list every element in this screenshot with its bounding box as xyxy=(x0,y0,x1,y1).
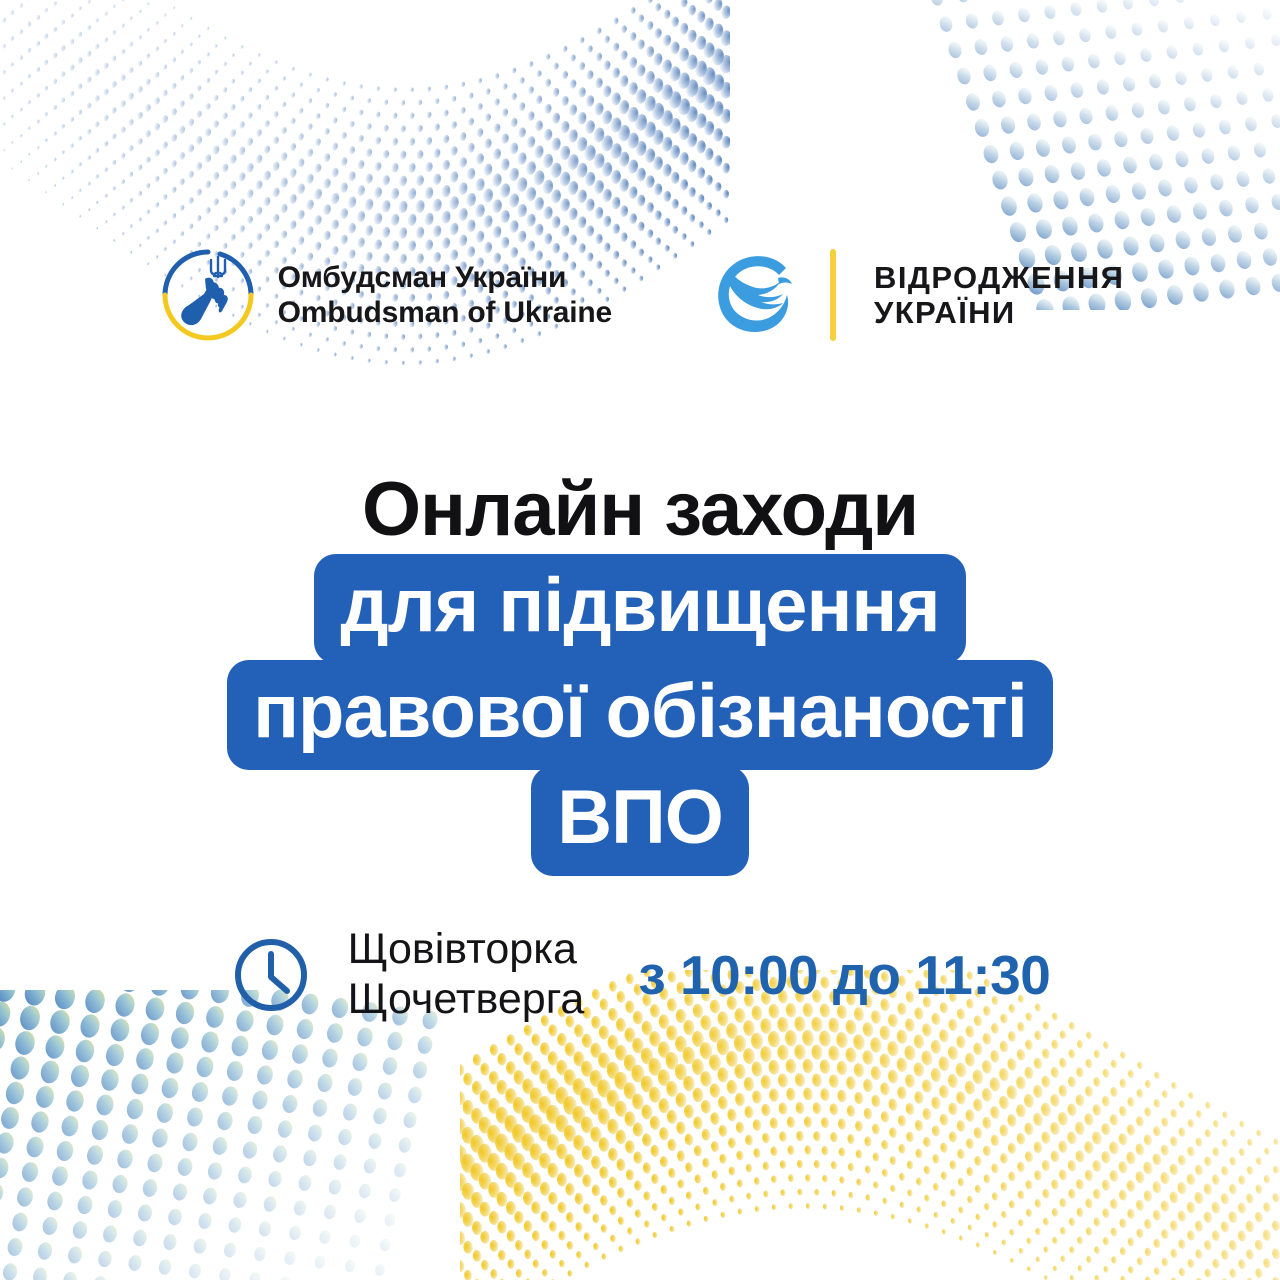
ombudsman-logo: Омбудсман України Ombudsman of Ukraine xyxy=(156,243,612,347)
phoenix-bird-icon xyxy=(708,248,802,342)
headline-line-4: ВПО xyxy=(531,766,749,876)
headline-line-2: для підвищення xyxy=(314,554,965,664)
ombudsman-emblem-icon xyxy=(156,243,260,347)
ombudsman-logo-text: Омбудсман України Ombudsman of Ukraine xyxy=(278,260,612,331)
partner-logo: ВІДРОДЖЕННЯ УКРАЇНИ xyxy=(708,248,1124,342)
schedule-day-2: Щочетверга xyxy=(348,975,585,1025)
schedule-day-1: Щовівторка xyxy=(348,925,585,975)
partner-name-line1: ВІДРОДЖЕННЯ xyxy=(874,260,1124,295)
poster-canvas: Омбудсман України Ombudsman of Ukraine В… xyxy=(0,0,1280,1280)
partner-logo-text: ВІДРОДЖЕННЯ УКРАЇНИ xyxy=(874,260,1124,331)
schedule-days: Щовівторка Щочетверга xyxy=(348,925,585,1025)
ombudsman-name-uk: Омбудсман України xyxy=(278,260,612,295)
headline-line-1: Онлайн заходи xyxy=(362,468,918,558)
schedule-time-range: з 10:00 до 11:30 xyxy=(638,943,1050,1007)
schedule-block: Щовівторка Щочетверга з 10:00 до 11:30 xyxy=(0,925,1280,1025)
logo-divider xyxy=(830,249,836,341)
partner-name-line2: УКРАЇНИ xyxy=(874,295,1124,330)
logo-bar: Омбудсман України Ombudsman of Ukraine В… xyxy=(0,243,1280,347)
headline-line-3: правової обізнаності xyxy=(227,660,1053,770)
headline-block: Онлайн заходи для підвищення правової об… xyxy=(0,468,1280,876)
clock-icon xyxy=(230,934,312,1016)
blue-yellow-dot-grid-pattern-icon xyxy=(0,990,490,1280)
ombudsman-name-en: Ombudsman of Ukraine xyxy=(278,295,612,330)
